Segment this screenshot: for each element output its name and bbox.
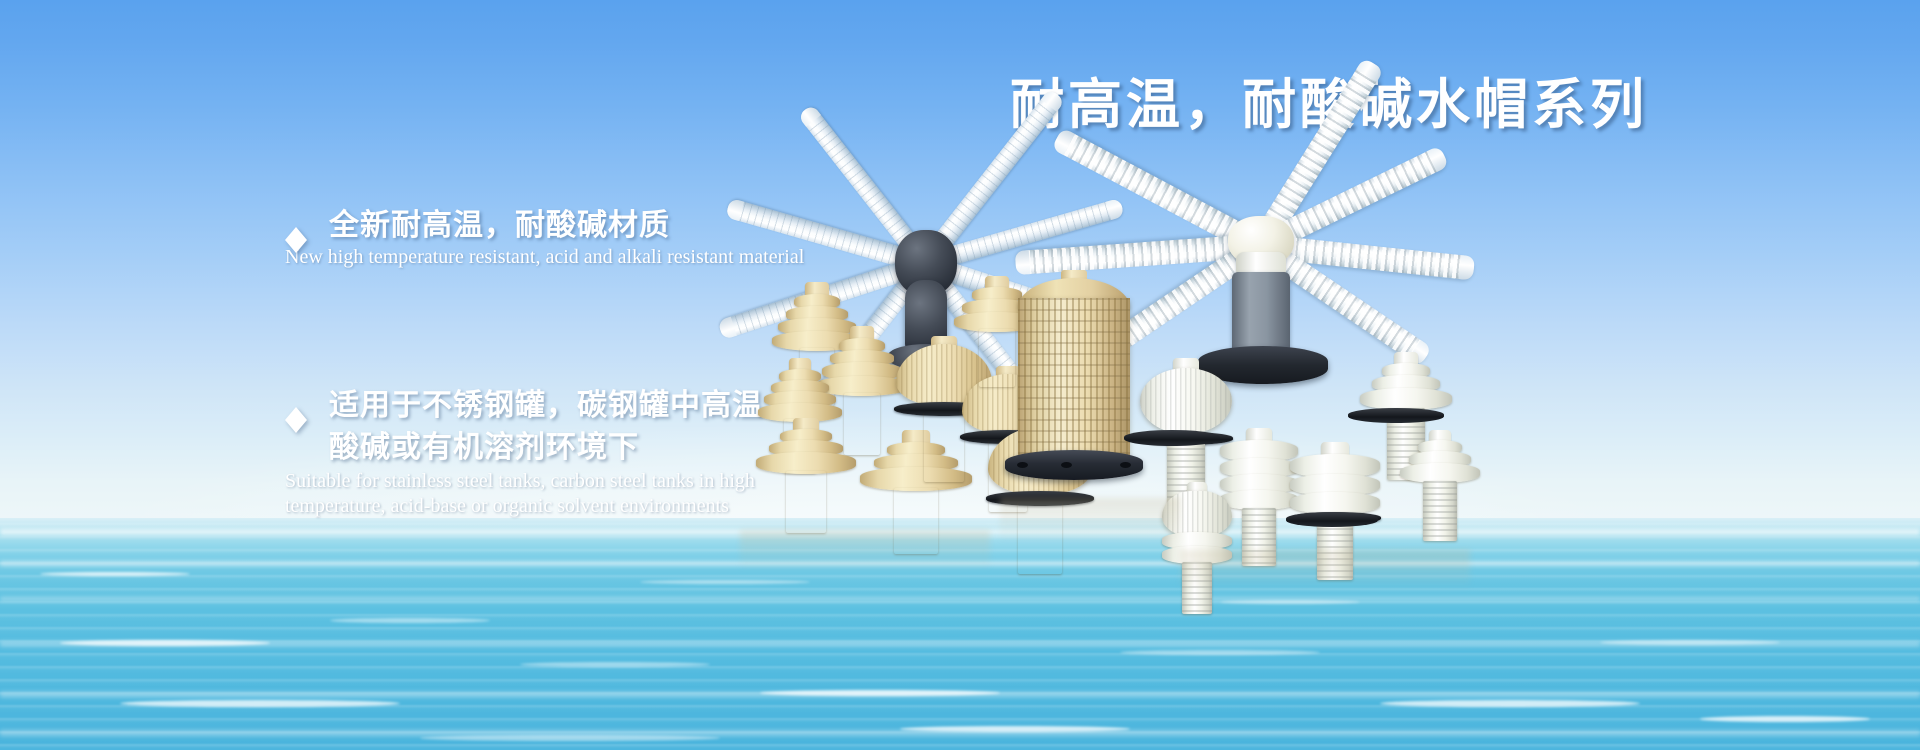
gasket-disc <box>1286 512 1378 527</box>
diamond-icon <box>285 396 307 420</box>
product-reflection <box>1000 498 1180 543</box>
water-ripple <box>60 640 270 646</box>
water-ripple <box>520 662 710 667</box>
product-reflection <box>740 530 990 570</box>
water-ripple <box>640 580 810 584</box>
product-cluster <box>700 130 1500 550</box>
water-ripple <box>900 726 1130 732</box>
gasket-disc <box>1124 430 1220 446</box>
barrel-base-flange <box>1005 450 1143 480</box>
water-ripple <box>1700 716 1870 722</box>
promo-banner: 耐高温，耐酸碱水帽系列 全新耐高温，耐酸碱材质 New high tempera… <box>0 0 1920 750</box>
gasket-disc <box>1348 408 1444 423</box>
water-ripple <box>760 690 1000 696</box>
water-ripple <box>1600 640 1780 645</box>
water-ripple <box>40 572 190 576</box>
product-reflection <box>1180 550 1470 590</box>
filter-barrel-large <box>1018 282 1130 497</box>
diamond-icon <box>285 216 307 240</box>
feature-bullet-1-cn: 全新耐高温，耐酸碱材质 <box>329 205 670 247</box>
water-ripple <box>1120 650 1320 655</box>
water-ripple <box>330 618 490 623</box>
water-ripple <box>420 735 720 741</box>
water-ripple <box>1380 700 1640 707</box>
water-glow-band <box>0 596 1920 602</box>
water-ripple <box>120 700 400 707</box>
